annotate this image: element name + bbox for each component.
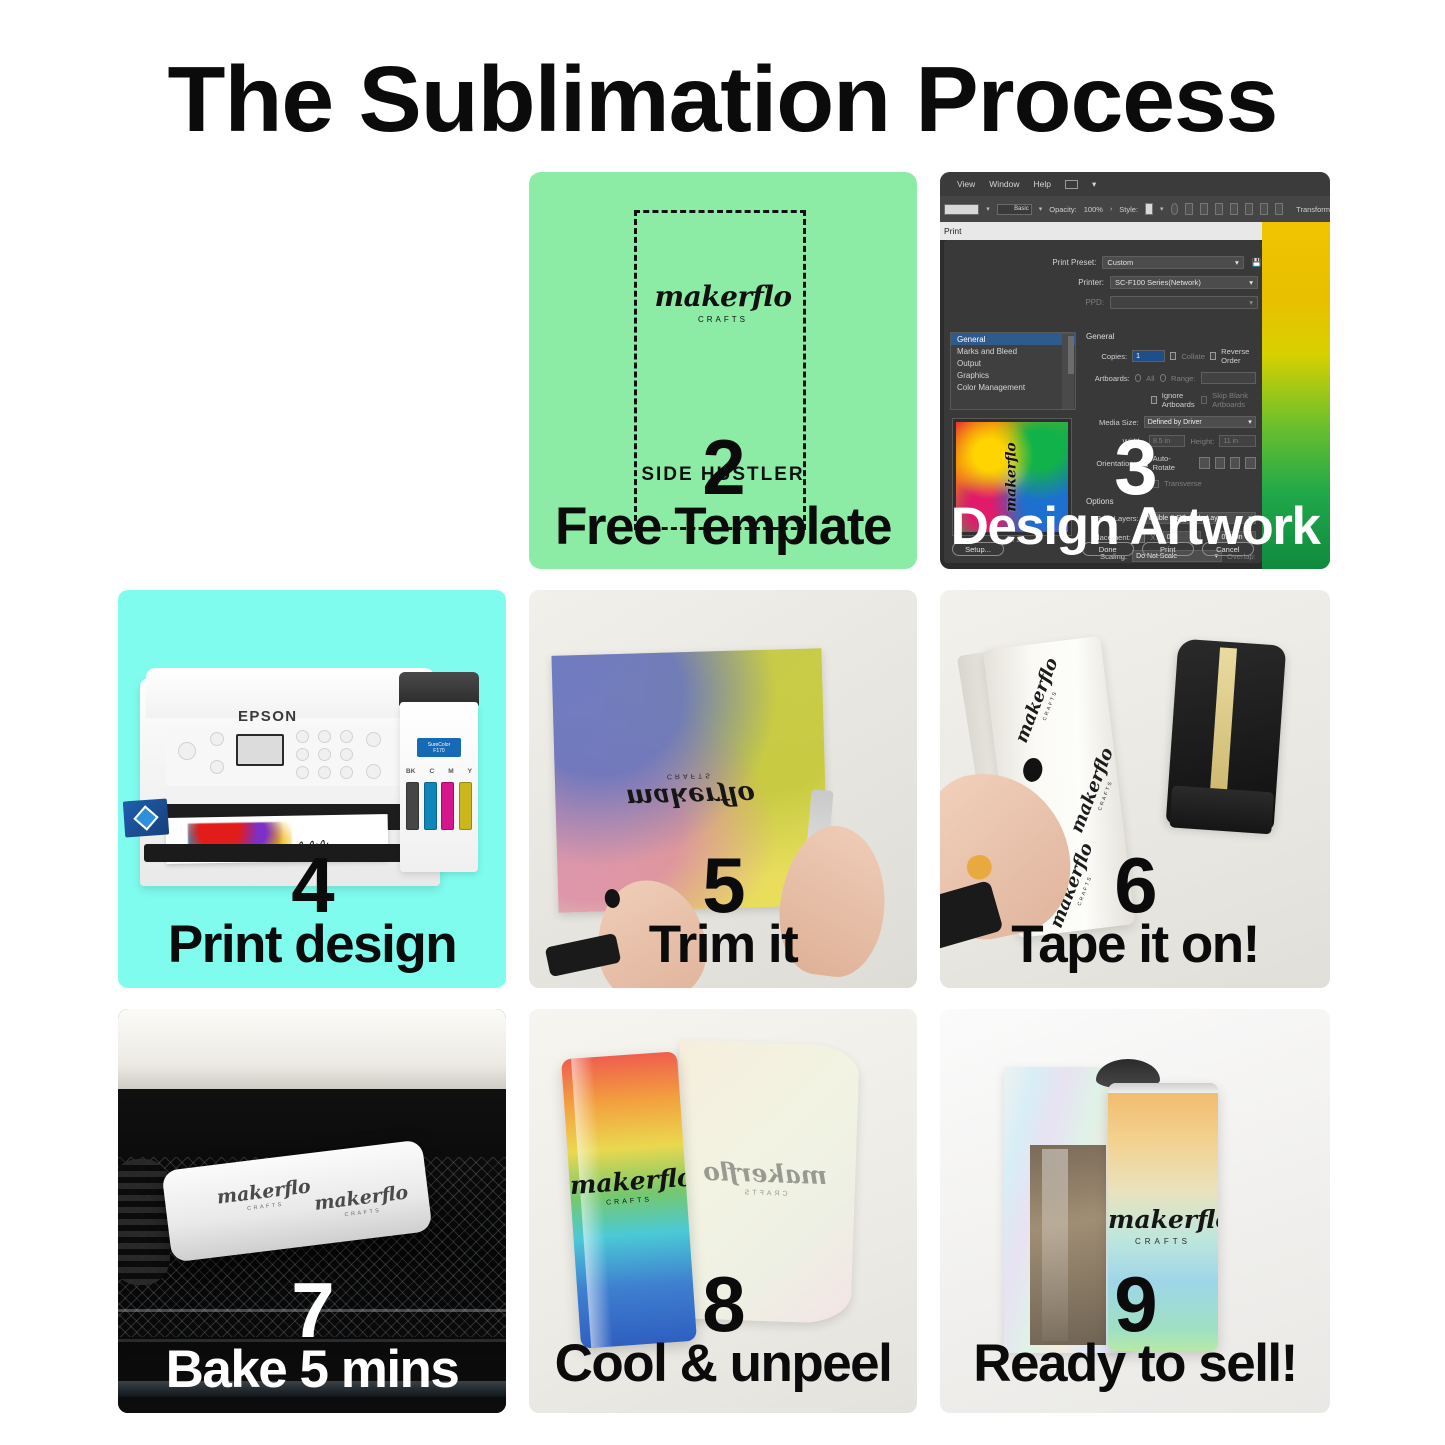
tumbler-rim: [1108, 1083, 1218, 1093]
media-size-row[interactable]: Media Size: Defined by Driver▾: [1084, 416, 1256, 428]
category-output[interactable]: Output: [951, 357, 1075, 369]
oven-rack-rail: [118, 1339, 506, 1342]
skip-blank-artboards-label: Skip Blank Artboards: [1212, 391, 1256, 409]
chevron-down-icon[interactable]: ▾: [986, 205, 990, 213]
ppd-select: ▾: [1110, 296, 1258, 309]
step-card-9[interactable]: makerflo CRAFTS 9 Ready to sell!: [940, 1009, 1330, 1413]
print-preset-row[interactable]: Print Preset: Custom▾ 💾: [944, 256, 1262, 269]
width-input: 8.5 in: [1149, 435, 1185, 447]
chevron-down-icon[interactable]: ▾: [1092, 179, 1096, 190]
ppd-label: PPD:: [944, 298, 1110, 307]
stroke-style-value: Basic: [1014, 206, 1029, 212]
orientation-portrait-flipped-icon[interactable]: [1230, 457, 1240, 469]
wrap-logo: makerfloCRAFTS: [1011, 655, 1069, 748]
tumbler-logo: makerflo CRAFTS: [569, 1163, 687, 1209]
orientation-portrait-icon[interactable]: [1199, 457, 1209, 469]
print-dialog-top-fields: Print Preset: Custom▾ 💾 Printer: SC-F100…: [944, 256, 1262, 316]
step-card-4[interactable]: EPSON ∿∿∿: [118, 590, 506, 988]
ignore-artboards-checkbox[interactable]: [1151, 396, 1157, 404]
media-size-label: Media Size:: [1084, 418, 1139, 427]
step-card-5[interactable]: makerflo CRAFTS 5 Trim it: [529, 590, 917, 988]
wrap-logo-sub: CRAFTS: [1032, 663, 1070, 748]
artboards-label: Artboards:: [1084, 374, 1130, 383]
keypad-button[interactable]: [340, 766, 353, 779]
surecolor-badge: SureColor F170: [417, 738, 461, 757]
keypad-button[interactable]: [296, 748, 309, 761]
power-button[interactable]: [178, 742, 196, 760]
orientation-landscape-flipped-icon[interactable]: [1245, 457, 1255, 469]
print-preset-label: Print Preset:: [944, 258, 1102, 267]
print-layers-label: Print Layers:: [1084, 514, 1139, 523]
bake-logo: makerfloCRAFTS: [313, 1181, 410, 1221]
graphic-style-swatch[interactable]: [1145, 203, 1153, 215]
artboards-row[interactable]: Artboards: All Range:: [1084, 372, 1256, 384]
ink-label-bk: BK: [406, 768, 415, 775]
ghost-logo: makerflo CRAFTS: [675, 1156, 856, 1200]
artwork-thumbnail: makerflo: [956, 422, 1068, 532]
chevron-down-icon: ▾: [1249, 298, 1253, 307]
printer-label: Printer:: [944, 278, 1110, 287]
arrange-documents-icon[interactable]: [1065, 180, 1078, 189]
print-layers-value: Visible & Printable Layers: [1148, 515, 1228, 522]
keypad-button[interactable]: [340, 748, 353, 761]
chevron-down-icon: ▾: [1248, 418, 1252, 426]
wrap-logo-sub: CRAFTS: [1066, 848, 1104, 933]
heat-tape-roll: [1210, 647, 1237, 798]
printer-base: [144, 844, 416, 862]
ghost-logo-sub: CRAFTS: [675, 1187, 855, 1200]
save-preset-icon[interactable]: 💾: [1252, 258, 1262, 267]
supplier-sticker: [123, 799, 169, 838]
auto-rotate-checkbox[interactable]: [1141, 459, 1148, 467]
gift-box-window: [1030, 1145, 1106, 1345]
chevron-down-icon[interactable]: ▾: [1039, 205, 1043, 213]
oven-photo: makerfloCRAFTS makerfloCRAFTS: [118, 1009, 506, 1413]
category-color-management[interactable]: Color Management: [951, 381, 1075, 393]
finished-tumbler-logo: makerflo CRAFTS: [1108, 1205, 1218, 1246]
transfer-logo-word: makerflo: [555, 777, 826, 815]
chevron-down-icon: ▾: [1235, 258, 1239, 267]
template-tagline: SIDE HUSTLER: [529, 464, 917, 486]
page-title: The Sublimation Process: [0, 46, 1445, 153]
finished-logo-sub: CRAFTS: [1108, 1237, 1218, 1246]
orientation-row[interactable]: Orientation: Auto-Rotate: [1084, 454, 1256, 472]
tape-photo: makerfloCRAFTS makerfloCRAFTS makerfloCR…: [940, 590, 1330, 988]
ppd-row: PPD: ▾: [944, 296, 1262, 309]
recolor-artwork-icon[interactable]: [1171, 203, 1179, 215]
ink-tanks: [406, 782, 472, 830]
step-card-8[interactable]: makerflo CRAFTS makerflo CRAFTS 8 Cool &…: [529, 1009, 917, 1413]
mirrored-logo: makerflo CRAFTS: [555, 768, 826, 815]
bake-logo: makerfloCRAFTS: [216, 1175, 313, 1215]
print-button[interactable]: Print: [1142, 542, 1194, 556]
ink-label-y: Y: [468, 768, 472, 775]
ink-tank-cover: [399, 672, 479, 706]
app-toolbar[interactable]: ▾ Basic ▾ Opacity: 100% › Style: ▾: [940, 196, 1330, 222]
ghost-logo-word: makerflo: [703, 1157, 828, 1190]
opacity-value[interactable]: 100%: [1084, 205, 1103, 214]
keypad-button[interactable]: [318, 748, 331, 761]
printer-panel: EPSON ∿∿∿: [118, 590, 506, 988]
chevron-down-icon: ▾: [1248, 514, 1252, 522]
ink-label-c: C: [429, 768, 434, 775]
template-logo-sub: CRAFTS: [529, 315, 917, 324]
document-setup-icon[interactable]: [1185, 203, 1193, 215]
print-layers-select[interactable]: Visible & Printable Layers▾: [1144, 512, 1256, 524]
width-label: Width:: [1104, 437, 1144, 446]
setup-button[interactable]: Setup...: [952, 542, 1004, 556]
home-button[interactable]: [210, 732, 224, 746]
media-dimensions-row: Width: 8.5 in Height: 11 in: [1084, 435, 1256, 447]
bake-logo-sub: CRAFTS: [316, 1204, 410, 1221]
wrap-logo: makerfloCRAFTS: [1066, 745, 1124, 838]
ink-labels: BK C M Y: [406, 768, 472, 775]
align-bottom-icon[interactable]: [1275, 203, 1283, 215]
height-label: Height:: [1190, 437, 1214, 446]
sublimated-tumbler: makerflo CRAFTS: [561, 1051, 697, 1348]
align-center-icon[interactable]: [1215, 203, 1223, 215]
media-size-value: Defined by Driver: [1148, 419, 1202, 426]
chevron-right-icon[interactable]: ›: [1110, 206, 1112, 213]
bake-logo-sub: CRAFTS: [218, 1198, 312, 1215]
placement-x-label: X:: [1150, 533, 1157, 542]
fill-swatch[interactable]: [944, 204, 979, 215]
placement-label: Placement:: [1084, 533, 1131, 542]
style-label: Style:: [1119, 205, 1138, 214]
auto-rotate-label: Auto-Rotate: [1153, 454, 1187, 472]
steps-grid: TUMBLER CARE INSTRUCTIONS 1. Hand Wash O…: [118, 172, 1330, 1412]
print-dialog-buttons: Setup... Done Print Cancel: [944, 542, 1262, 556]
transverse-row: Transverse: [1084, 479, 1256, 488]
finished-logo-word: makerflo: [1108, 1205, 1218, 1234]
artboard-artwork-strip: [1262, 222, 1330, 569]
transverse-checkbox: [1151, 480, 1159, 488]
diamond-icon: [133, 805, 158, 830]
keypad-button[interactable]: [296, 766, 309, 779]
stop-button[interactable]: [366, 764, 381, 779]
start-button[interactable]: [366, 732, 381, 747]
artboards-range-radio[interactable]: [1160, 374, 1166, 382]
print-category-list[interactable]: General Marks and Bleed Output Graphics …: [950, 332, 1076, 410]
print-preview: makerflo: [952, 418, 1072, 536]
print-preset-value: Custom: [1107, 258, 1133, 267]
done-button[interactable]: Done: [1082, 542, 1134, 556]
printer-select[interactable]: SC-F100 Series(Network)▾: [1110, 276, 1258, 289]
illustrator-screenshot: View Window Help ▾ ▾ Basic ▾ Opacity: 10…: [940, 172, 1330, 569]
skip-blank-artboards-checkbox: [1201, 396, 1207, 404]
step-card-3[interactable]: View Window Help ▾ ▾ Basic ▾ Opacity: 10…: [940, 172, 1330, 569]
finished-tumbler: makerflo CRAFTS: [1108, 1083, 1218, 1351]
menu-help[interactable]: Help: [1034, 179, 1051, 189]
trim-photo: makerflo CRAFTS: [529, 590, 917, 988]
ignore-artboards-label: Ignore Artboards: [1162, 391, 1197, 409]
step-card-2[interactable]: makerflo CRAFTS SIDE HUSTLER 2 Free Temp…: [529, 172, 917, 569]
media-size-select[interactable]: Defined by Driver▾: [1144, 416, 1256, 428]
artboards-range-label: Range:: [1171, 374, 1196, 383]
artboards-all-label: All: [1146, 374, 1154, 383]
align-left-icon[interactable]: [1200, 203, 1208, 215]
category-graphics[interactable]: Graphics: [951, 369, 1075, 381]
template-logo: makerflo CRAFTS: [529, 280, 917, 324]
orientation-landscape-icon[interactable]: [1215, 457, 1225, 469]
transform-label[interactable]: Transform: [1296, 205, 1330, 214]
infographic-page: The Sublimation Process TUMBLER CARE INS…: [0, 0, 1445, 1445]
transverse-label: Transverse: [1164, 479, 1202, 488]
wrap-logo-sub: CRAFTS: [1087, 753, 1125, 838]
ink-tank-bk: [406, 782, 419, 830]
collate-label: Collate: [1181, 352, 1205, 361]
print-preset-select[interactable]: Custom▾: [1102, 256, 1243, 269]
align-middle-icon[interactable]: [1260, 203, 1268, 215]
help-button[interactable]: [210, 760, 224, 774]
peeled-transfer-paper: makerflo CRAFTS: [670, 1040, 860, 1324]
opacity-label: Opacity:: [1049, 205, 1077, 214]
ink-tank-m: [441, 782, 454, 830]
collate-checkbox[interactable]: [1170, 352, 1176, 360]
artboards-range-input[interactable]: [1201, 372, 1256, 384]
printer-row[interactable]: Printer: SC-F100 Series(Network)▾: [944, 276, 1262, 289]
align-right-icon[interactable]: [1230, 203, 1238, 215]
print-dialog-title: Print: [940, 222, 1262, 240]
oven-door-glass: [118, 1381, 506, 1397]
oven-door-top: [118, 1009, 506, 1089]
copies-label: Copies:: [1084, 352, 1127, 361]
print-dialog[interactable]: Print Preset: Custom▾ 💾 Printer: SC-F100…: [944, 240, 1262, 563]
category-list-scrollbar[interactable]: [1062, 334, 1074, 410]
ink-label-m: M: [448, 768, 453, 775]
ignore-artboards-row[interactable]: Ignore Artboards Skip Blank Artboards: [1084, 391, 1256, 409]
cancel-button[interactable]: Cancel: [1202, 542, 1254, 556]
menu-view[interactable]: View: [957, 179, 975, 189]
unpeel-photo: makerflo CRAFTS makerflo CRAFTS: [529, 1009, 917, 1413]
app-menu-bar[interactable]: View Window Help ▾: [940, 172, 1330, 196]
heating-coil: [118, 1159, 170, 1285]
artwork-logo: makerflo: [1004, 442, 1020, 511]
free-template-panel: makerflo CRAFTS SIDE HUSTLER: [529, 172, 917, 569]
finished-product-photo: makerflo CRAFTS: [940, 1009, 1330, 1413]
keypad-button[interactable]: [296, 730, 309, 743]
align-top-icon[interactable]: [1245, 203, 1253, 215]
category-marks-and-bleed[interactable]: Marks and Bleed: [951, 345, 1075, 357]
keypad-button[interactable]: [340, 730, 353, 743]
stroke-style-select[interactable]: Basic: [997, 204, 1032, 215]
step-card-6[interactable]: makerfloCRAFTS makerfloCRAFTS makerfloCR…: [940, 590, 1330, 988]
orientation-label: Orientation:: [1084, 459, 1136, 468]
dispenser-base: [1169, 785, 1274, 834]
keypad-button[interactable]: [318, 730, 331, 743]
copies-input[interactable]: 1: [1132, 350, 1165, 362]
copies-row[interactable]: Copies: 1 Collate Reverse Order: [1084, 347, 1256, 365]
printer-lcd-screen: [236, 734, 284, 766]
fingernail: [604, 888, 621, 909]
surecolor-line2: F170: [433, 748, 444, 754]
placement-y-label: Y:: [1206, 533, 1213, 542]
print-dialog-general-panel: General Copies: 1 Collate Reverse Order …: [1084, 332, 1256, 569]
category-general[interactable]: General: [951, 333, 1075, 345]
chevron-down-icon: ▾: [1249, 278, 1253, 287]
chevron-down-icon[interactable]: ▾: [1160, 205, 1164, 213]
menu-window[interactable]: Window: [989, 179, 1019, 189]
ink-tank-y: [459, 782, 472, 830]
options-heading: Options: [1086, 497, 1256, 506]
epson-brand-label: EPSON: [238, 708, 298, 725]
general-heading: General: [1086, 332, 1256, 341]
template-logo-word: makerflo: [529, 280, 917, 313]
printer-value: SC-F100 Series(Network): [1115, 278, 1201, 287]
height-input: 11 in: [1219, 435, 1255, 447]
reverse-order-label: Reverse Order: [1221, 347, 1256, 365]
print-layers-row[interactable]: Print Layers: Visible & Printable Layers…: [1084, 512, 1256, 524]
keypad-button[interactable]: [318, 766, 331, 779]
artboards-all-radio[interactable]: [1135, 374, 1141, 382]
tape-dispenser: [1166, 638, 1287, 830]
oven-rack-rail: [118, 1309, 506, 1312]
step-card-7[interactable]: makerfloCRAFTS makerfloCRAFTS 7 Bake 5 m…: [118, 1009, 506, 1413]
reverse-order-checkbox[interactable]: [1210, 352, 1216, 360]
ink-tank-c: [424, 782, 437, 830]
